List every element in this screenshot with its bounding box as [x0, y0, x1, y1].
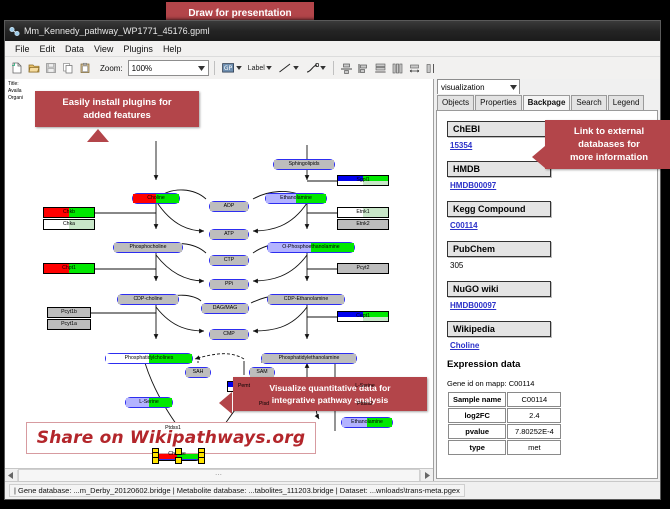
gene-node-etnk2[interactable]: Etnk2 [337, 219, 389, 230]
common-height-icon[interactable] [424, 61, 439, 76]
open-icon[interactable] [26, 61, 41, 76]
menu-bar[interactable]: File Edit Data View Plugins Help [5, 41, 660, 57]
callout-plugins-arrow-icon [87, 129, 109, 142]
distribute-icon[interactable] [390, 61, 405, 76]
copy-icon[interactable] [60, 61, 75, 76]
label-picker-label: Label [248, 65, 265, 72]
section-header-wikipedia: Wikipedia [447, 321, 551, 337]
chevron-down-icon[interactable] [196, 62, 208, 74]
expression-key-pvalue: pvalue [448, 424, 506, 439]
tab-legend[interactable]: Legend [608, 95, 645, 110]
menu-item-help[interactable]: Help [158, 44, 187, 54]
node-label: Ptdss2 [357, 402, 373, 407]
section-link-nugo[interactable]: HMDB00097 [450, 301, 649, 310]
visualization-combo[interactable]: visualization [437, 79, 520, 95]
metabolite-node-phosphatidylcholines[interactable]: Phosphatidylcholines [105, 353, 193, 364]
table-row: pvalue 7.80252E-4 [448, 424, 561, 439]
table-row: type met [448, 440, 561, 455]
svg-text:GP: GP [224, 65, 233, 72]
gene-node-pcyt2[interactable]: Pcyt2 [337, 263, 389, 274]
metabolite-node-ethanolamine[interactable]: Ethanolamine [341, 417, 393, 428]
callout-visualize-line-1: Visualize quantitative data for [241, 382, 419, 394]
node-label: SAH [193, 370, 204, 375]
toolbar-separator [214, 61, 215, 75]
node-label: Phosphatidylethanolamine [279, 356, 340, 361]
metabolite-node-phosphocholine[interactable]: Phosphocholine [113, 242, 183, 253]
datanode-picker[interactable]: GP [220, 61, 244, 76]
menu-item-file[interactable]: File [10, 44, 35, 54]
selection-handle[interactable] [152, 457, 159, 464]
tab-backpage[interactable]: Backpage [523, 95, 571, 111]
metabolite-node-o-phosphoethanolamine[interactable]: O-Phosphoethanolamine [267, 242, 355, 253]
metabolite-node-phosphatidylethanolamine[interactable]: Phosphatidylethanolamine [261, 353, 357, 364]
pathway-canvas[interactable]: Title: Availa Organi [5, 79, 434, 481]
node-label: Phosphatidylcholines [125, 356, 174, 361]
node-label: PPi [225, 282, 233, 287]
node-label: Sgpl1 [356, 178, 369, 183]
selection-handle[interactable] [198, 457, 205, 464]
scroll-right-icon[interactable] [421, 470, 433, 481]
node-label: Ethanolamine [280, 196, 312, 201]
node-label: Ptdss1 [165, 426, 181, 431]
pathway-nodes[interactable]: SphingolipidsCholineEthanolamineADPATPPh… [5, 79, 433, 481]
expression-value-log2fc: 2.4 [507, 408, 561, 423]
callout-plugins-line-1: Easily install plugins for [43, 96, 191, 109]
align-left-icon[interactable] [356, 61, 371, 76]
selection-handle[interactable] [175, 448, 182, 455]
gene-node-chka[interactable]: Chka [43, 219, 95, 230]
node-label: Phosphocholine [130, 245, 167, 250]
callout-plugins-line-2: added features [43, 109, 191, 122]
scroll-thumb[interactable]: ⋯ [18, 469, 420, 482]
callout-links-line-2: databases for [553, 138, 665, 151]
node-label: CDP-Ethanolamine [284, 297, 328, 302]
align-center-icon[interactable] [339, 61, 354, 76]
callout-plugins: Easily install plugins for added feature… [35, 91, 199, 127]
expression-data-heading: Expression data [447, 359, 649, 370]
menu-item-edit[interactable]: Edit [35, 44, 61, 54]
node-label: Chpt1 [62, 266, 76, 271]
metabolite-node-cdp-choline[interactable]: CDP-choline [117, 294, 179, 305]
gene-node-pcyt1a[interactable]: Pcyt1a [47, 319, 91, 330]
metabolite-node-choline[interactable]: Choline [132, 193, 180, 204]
metabolite-node-ethanolamine[interactable]: Ethanolamine [265, 193, 327, 204]
gene-node-cept1[interactable]: Cept1 [337, 311, 389, 322]
section-value-pubchem: 305 [450, 261, 649, 270]
line-picker[interactable] [276, 61, 301, 76]
scroll-left-icon[interactable] [5, 470, 17, 481]
expression-gene-id: Gene id on mapp: C00114 [447, 379, 649, 388]
node-label: Etnk1 [356, 210, 369, 215]
scroll-track[interactable]: ⋯ [17, 470, 421, 481]
callout-draw-line-1: Draw for presentation [174, 7, 306, 20]
stack-icon[interactable] [373, 61, 388, 76]
node-label: ADP [224, 204, 235, 209]
section-link-hmdb[interactable]: HMDB00097 [450, 181, 649, 190]
gene-node-sgpl1[interactable]: Sgpl1 [337, 175, 389, 186]
metabolite-node-ctp[interactable]: CTP [209, 255, 249, 266]
expression-value-sample: C00114 [507, 392, 561, 407]
expression-key-type: type [448, 440, 506, 455]
interaction-picker[interactable] [303, 61, 328, 76]
section-header-pubchem: PubChem [447, 241, 551, 257]
screenshot-root: Draw for presentation & publication Mm_K… [0, 0, 670, 509]
label-picker[interactable]: Label [246, 61, 274, 76]
node-label: Cept1 [356, 314, 370, 319]
node-label: Sphingolipids [289, 162, 320, 167]
callout-visualize-arrow-icon [219, 392, 232, 414]
node-label: Pemt [238, 384, 250, 389]
status-bar: | Gene database: ...m_Derby_20120602.bri… [5, 481, 660, 499]
gene-node-chpt1[interactable]: Chpt1 [43, 263, 95, 274]
node-label: L-Serine [139, 400, 159, 405]
zoom-combo[interactable]: 100% [128, 60, 209, 76]
visualization-value: visualization [441, 83, 485, 92]
metabolite-node-sah[interactable]: SAH [185, 367, 211, 378]
status-bar-text: | Gene database: ...m_Derby_20120602.bri… [9, 484, 465, 497]
gene-node-etnk1[interactable]: Etnk1 [337, 207, 389, 218]
zoom-value: 100% [132, 64, 152, 73]
section-header-nugo: NuGO wiki [447, 281, 551, 297]
metabolite-node-sphingolipids[interactable]: Sphingolipids [273, 159, 335, 170]
menu-item-view[interactable]: View [89, 44, 118, 54]
node-label: Chka [63, 222, 75, 227]
pathvisio-app-icon [9, 26, 20, 37]
tab-search[interactable]: Search [571, 95, 606, 110]
zoom-label: Zoom: [100, 64, 123, 73]
section-header-chebi: ChEBI [447, 121, 551, 137]
section-link-kegg[interactable]: C00114 [450, 221, 649, 230]
node-label: CMP [223, 332, 235, 337]
tool-bar[interactable]: Zoom: 100% GP Label [5, 57, 660, 80]
chevron-down-icon[interactable] [507, 81, 519, 93]
node-label: Pisd [259, 402, 269, 407]
paste-icon[interactable] [77, 61, 92, 76]
callout-links-arrow-icon [532, 146, 545, 168]
node-label: L-Serine [355, 384, 375, 389]
gene-node-pcyt1b[interactable]: Pcyt1b [47, 307, 91, 318]
section-header-kegg: Kegg Compound [447, 201, 551, 217]
node-label: DAG/MAG [213, 306, 238, 311]
metabolite-node-adp[interactable]: ADP [209, 201, 249, 212]
metabolite-node-cmp[interactable]: CMP [209, 329, 249, 340]
metabolite-node-dag-mag[interactable]: DAG/MAG [201, 303, 249, 314]
node-label: SAM [256, 370, 267, 375]
node-label: Pcyt1a [61, 322, 77, 327]
metabolite-node-l-serine[interactable]: L-Serine [125, 397, 173, 408]
canvas-hscrollbar[interactable]: ⋯ [5, 468, 433, 481]
node-label: Choline [147, 196, 165, 201]
callout-links-line-1: Link to external [553, 125, 665, 138]
metabolite-node-atp[interactable]: ATP [209, 229, 249, 240]
table-row: Sample name C00114 [448, 392, 561, 407]
node-label: ATP [224, 232, 234, 237]
new-icon[interactable] [9, 61, 24, 76]
expression-key-sample: Sample name [448, 392, 506, 407]
expression-value-type: met [507, 440, 561, 455]
node-label: CTP [224, 258, 234, 263]
callout-links: Link to external databases for more info… [545, 120, 670, 169]
section-link-wikipedia[interactable]: Choline [450, 341, 649, 350]
metabolite-node-cdp-ethanolamine[interactable]: CDP-Ethanolamine [267, 294, 345, 305]
table-row: log2FC 2.4 [448, 408, 561, 423]
expression-value-pvalue: 7.80252E-4 [507, 424, 561, 439]
gene-node-chkb[interactable]: Chkb [43, 207, 95, 218]
expression-table: Sample name C00114 log2FC 2.4 pvalue 7.8… [447, 391, 562, 456]
side-panel-tabs[interactable]: Objects Properties Backpage Search Legen… [434, 94, 660, 110]
toolbar-separator [333, 61, 334, 75]
node-label: O-Phosphoethanolamine [282, 245, 339, 250]
title-bar: Mm_Kennedy_pathway_WP1771_45176.gpml [5, 21, 660, 41]
node-label: Pcyt2 [357, 266, 370, 271]
window-title: Mm_Kennedy_pathway_WP1771_45176.gpml [24, 26, 210, 36]
node-label: Pcyt1b [61, 310, 77, 315]
menu-item-data[interactable]: Data [60, 44, 89, 54]
selection-handle[interactable] [175, 457, 182, 464]
node-label: Ethanolamine [351, 420, 383, 425]
node-label: Etnk2 [356, 222, 369, 227]
node-label: CDP-choline [133, 297, 162, 302]
metabolite-node-ppi[interactable]: PPi [209, 279, 249, 290]
save-icon[interactable] [43, 61, 58, 76]
callout-links-line-3: more information [553, 151, 665, 164]
menu-item-plugins[interactable]: Plugins [118, 44, 158, 54]
common-width-icon[interactable] [407, 61, 422, 76]
node-label: Chkb [63, 210, 75, 215]
tab-objects[interactable]: Objects [437, 95, 474, 110]
tab-properties[interactable]: Properties [475, 95, 521, 110]
expression-key-log2fc: log2FC [448, 408, 506, 423]
